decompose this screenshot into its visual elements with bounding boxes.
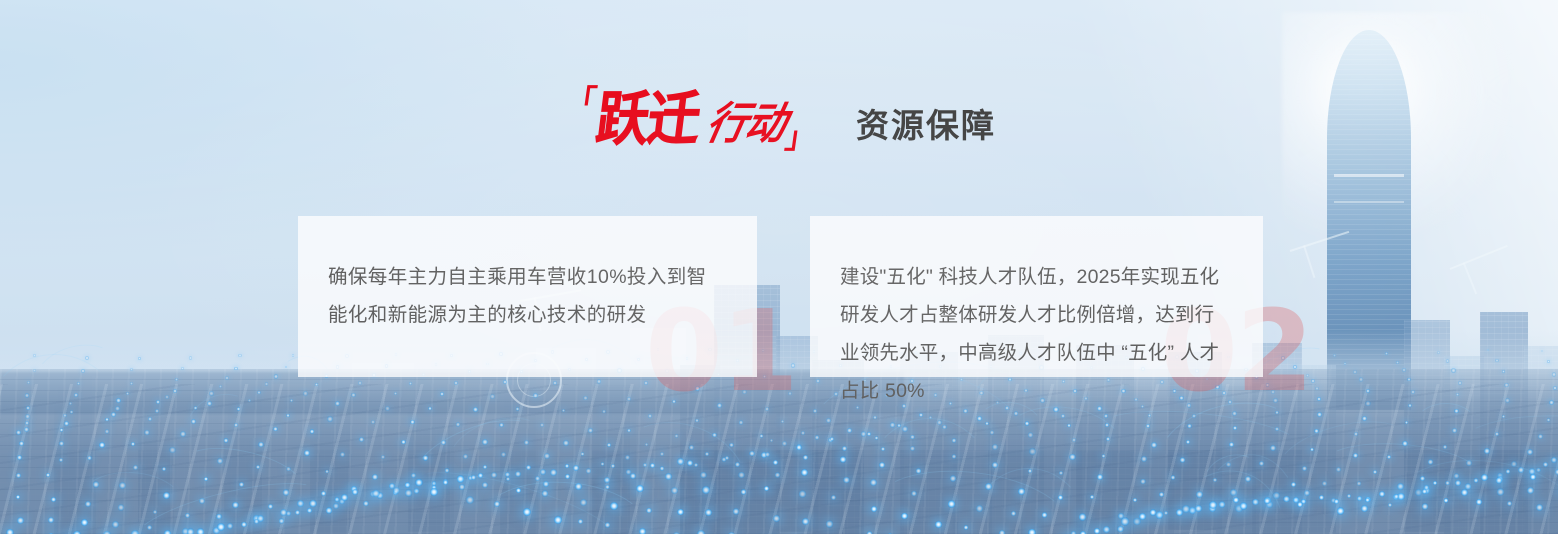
network-dot	[1396, 361, 1399, 364]
network-dot	[550, 469, 557, 476]
network-dot	[775, 472, 781, 478]
network-dot	[473, 407, 478, 412]
brand-primary-text: 跃迁	[593, 91, 702, 149]
network-dot	[605, 485, 610, 490]
network-dot	[238, 354, 242, 358]
network-dot	[409, 382, 412, 385]
network-dot	[51, 497, 56, 502]
slide-canvas: 01 02 「 跃迁 行动 「 资源保障 确保每年主力自主乘用车营收10%投入到…	[0, 0, 1558, 534]
network-dot	[796, 445, 801, 450]
network-dot	[1541, 350, 1543, 352]
network-dot	[749, 451, 755, 457]
network-dot	[1437, 351, 1440, 354]
network-dot	[401, 440, 405, 444]
brand-logotype: 「 跃迁 行动 「	[566, 94, 816, 146]
network-dot	[358, 381, 362, 385]
network-dot	[225, 376, 229, 380]
network-dot	[586, 468, 592, 474]
network-dot	[801, 469, 808, 476]
network-dot	[1407, 378, 1411, 382]
network-dot	[333, 503, 339, 509]
network-dot	[1090, 495, 1094, 499]
network-dot	[1495, 359, 1499, 363]
network-dot	[1553, 386, 1557, 390]
network-dot	[490, 394, 495, 399]
network-dot	[130, 382, 133, 385]
network-dot	[1405, 421, 1408, 424]
network-dot	[1456, 393, 1459, 396]
network-dot	[393, 487, 400, 494]
network-dot	[340, 452, 345, 457]
network-dot	[1361, 505, 1368, 512]
network-dot	[1446, 359, 1449, 362]
network-dot	[173, 389, 177, 393]
network-dot	[826, 520, 834, 528]
network-dot	[155, 409, 159, 413]
network-dot	[770, 439, 774, 443]
network-dot	[1359, 377, 1364, 382]
network-dot	[144, 430, 150, 436]
quote-close-mark: 「	[785, 119, 818, 149]
network-dot	[1347, 494, 1351, 498]
network-dot	[739, 420, 744, 425]
network-dot	[335, 401, 340, 406]
network-dot	[48, 517, 54, 523]
network-dot	[410, 420, 415, 425]
network-dot	[454, 381, 458, 385]
network-dot	[1504, 383, 1508, 387]
network-dot	[1411, 390, 1415, 394]
network-dot	[257, 391, 261, 395]
network-dot	[1365, 498, 1370, 503]
network-dot	[1353, 370, 1357, 374]
network-dot	[304, 450, 310, 456]
network-dot	[6, 529, 13, 534]
network-dot	[162, 467, 166, 471]
network-dot	[803, 455, 808, 460]
network-dot	[138, 357, 142, 361]
network-dot	[169, 447, 175, 453]
network-dot	[816, 379, 820, 383]
network-dot	[258, 442, 264, 448]
network-dot	[801, 431, 806, 436]
network-dot	[181, 367, 184, 370]
network-dot	[773, 460, 779, 466]
network-dot	[1156, 511, 1163, 518]
network-dot	[156, 400, 160, 404]
network-dot	[133, 465, 138, 470]
network-dot	[1103, 526, 1111, 534]
network-dot	[765, 452, 770, 457]
brand-secondary-text: 行动	[702, 102, 789, 146]
network-dot	[189, 356, 193, 360]
network-dot	[764, 486, 769, 491]
content-card-02: 建设"五化" 科技人才队伍，2025年实现五化研发人才占整体研发人才比例倍增，达…	[810, 216, 1263, 377]
network-dot	[394, 392, 397, 395]
network-dot	[773, 515, 780, 522]
network-dot	[604, 477, 610, 483]
network-dot	[352, 489, 359, 496]
network-dot	[1317, 397, 1321, 401]
network-dot	[760, 434, 763, 437]
network-dot	[1366, 389, 1370, 393]
network-dot	[1133, 498, 1137, 502]
network-dot	[1385, 352, 1388, 355]
construction-crane	[1450, 245, 1508, 270]
network-dot	[1159, 492, 1163, 496]
network-dot	[1357, 496, 1362, 501]
network-dot	[1547, 360, 1551, 364]
network-dot	[565, 474, 570, 479]
content-card-01: 确保每年主力自主乘用车营收10%投入到智能化和新能源为主的核心技术的研发	[298, 216, 757, 377]
network-dot	[359, 437, 365, 443]
network-dot	[802, 518, 809, 525]
network-dot	[1402, 368, 1406, 372]
network-dot	[73, 531, 81, 534]
network-dot	[175, 378, 178, 381]
network-dot	[165, 395, 169, 399]
network-dot	[782, 441, 787, 446]
network-dot	[565, 464, 569, 468]
network-dot	[180, 431, 186, 437]
network-dot	[381, 455, 385, 459]
network-dot	[535, 476, 540, 481]
quote-open-mark: 「	[564, 87, 597, 117]
network-dot	[351, 393, 356, 398]
network-dot	[130, 368, 133, 371]
network-dot	[1344, 362, 1347, 365]
network-dot	[1408, 404, 1412, 408]
network-dot	[1487, 349, 1489, 351]
network-dot	[440, 392, 444, 396]
slide-title: 「 跃迁 行动 「 资源保障	[566, 94, 996, 146]
network-dot	[372, 474, 378, 480]
network-dot	[1505, 398, 1510, 403]
network-dot	[131, 442, 135, 446]
network-dot	[1334, 499, 1339, 504]
network-dot	[1552, 372, 1557, 377]
network-dot	[219, 385, 222, 388]
network-dot	[372, 490, 379, 497]
network-dot	[1365, 401, 1370, 406]
network-dot	[1337, 507, 1344, 514]
network-dot	[405, 489, 413, 497]
network-dot	[1502, 370, 1505, 373]
network-dot	[325, 470, 329, 474]
network-dot	[327, 416, 332, 421]
network-dot	[292, 354, 295, 357]
network-dot	[363, 501, 369, 507]
network-dot	[695, 419, 699, 423]
network-dot	[81, 519, 88, 526]
network-dot	[16, 495, 21, 500]
network-dot	[326, 507, 332, 513]
network-dot	[126, 392, 129, 395]
network-dot	[1139, 513, 1146, 520]
card-02-text: 建设"五化" 科技人才队伍，2025年实现五化研发人才占整体研发人才比例倍增，达…	[840, 258, 1229, 410]
network-dot	[781, 420, 785, 424]
network-dot	[831, 495, 836, 500]
network-dot	[1117, 526, 1123, 532]
network-dot	[428, 407, 431, 410]
network-dot	[1317, 412, 1322, 417]
network-dot	[799, 490, 807, 498]
network-dot	[456, 422, 460, 426]
network-dot	[341, 494, 348, 501]
network-dot	[385, 406, 390, 411]
network-dot	[1121, 517, 1129, 525]
network-dot	[503, 380, 507, 384]
network-dot	[1549, 400, 1554, 405]
network-dot	[234, 367, 237, 370]
network-dot	[1319, 495, 1324, 500]
network-dot	[148, 417, 152, 421]
network-dot	[1150, 509, 1157, 516]
network-dot	[516, 407, 520, 411]
page-title: 资源保障	[856, 109, 996, 142]
network-dot	[17, 517, 24, 524]
network-dot	[405, 482, 410, 487]
network-dot	[1451, 368, 1456, 373]
network-dot	[1094, 528, 1100, 534]
network-dot	[1140, 479, 1145, 484]
network-dot	[371, 420, 375, 424]
card-01-text: 确保每年主力自主乘用车营收10%投入到智能化和新能源为主的核心技术的研发	[328, 258, 723, 334]
network-dot	[1458, 381, 1462, 385]
network-dot	[540, 469, 546, 475]
